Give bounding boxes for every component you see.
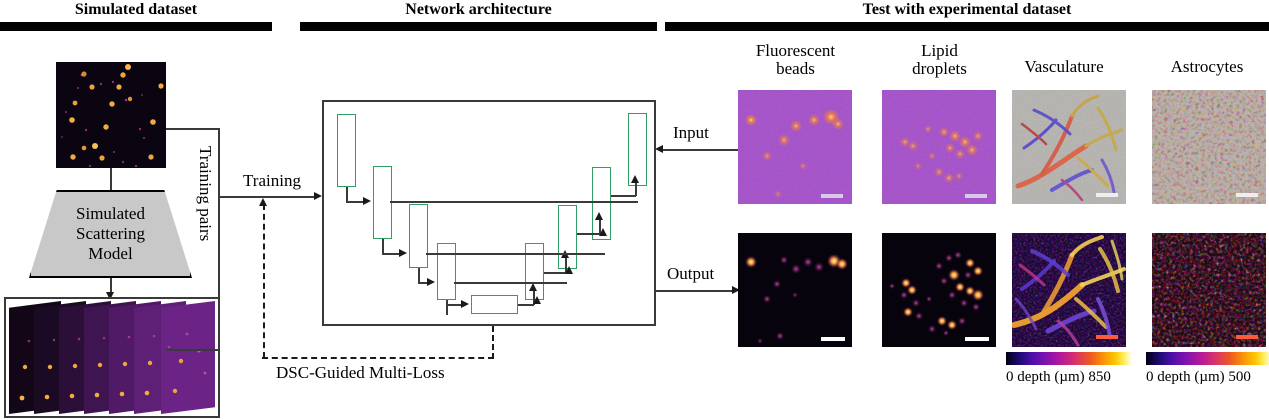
vasculature-colorbar-max: 850 — [1088, 369, 1111, 385]
input-arrow-head — [655, 145, 663, 153]
astrocytes-colorbar-min: 0 — [1146, 369, 1154, 385]
output-arrow-line — [656, 290, 736, 292]
vasculature-colorbar-min: 0 — [1006, 369, 1014, 385]
unet-skip-connection — [390, 201, 638, 203]
unet-skip-arrow — [533, 296, 541, 304]
unet-skip-arrow — [599, 228, 607, 236]
unet-down-arrow — [363, 197, 371, 205]
beads-output-render — [738, 233, 852, 347]
unet-down-link — [346, 187, 348, 202]
loss-feedback-down — [492, 326, 494, 359]
loss-label: DSC-Guided Multi-Loss — [276, 364, 445, 382]
column-title-beads-line2: beads — [738, 60, 853, 78]
unet-up-arrow — [595, 212, 603, 220]
vasculature-input-render — [1012, 90, 1126, 204]
figure-root: Simulated dataset Network architecture T… — [0, 0, 1269, 420]
column-title-lipid-line2: droplets — [882, 60, 997, 78]
astrocytes-colorbar-max: 500 — [1228, 369, 1251, 385]
unet-down-arrow — [399, 249, 407, 257]
section-rule-simulated — [0, 22, 272, 31]
unet-decoder-block — [558, 205, 577, 269]
training-arrow-head — [314, 192, 322, 200]
vasculature-output-render — [1012, 233, 1126, 347]
training-arrow-line — [218, 196, 318, 198]
unet-up-link — [611, 195, 636, 197]
column-title-beads-line1: Fluorescent — [738, 42, 853, 60]
unet-encoder-block — [437, 243, 456, 300]
training-pairs-label: Training pairs — [195, 146, 215, 241]
section-title-simulated: Simulated dataset — [0, 1, 272, 19]
vasculature-input-image — [1012, 90, 1126, 204]
unet-skip-connection — [426, 253, 605, 255]
lipid-output-render — [882, 233, 996, 347]
lipid-input-image — [882, 90, 996, 204]
unet-bottleneck-block — [471, 295, 518, 314]
astrocytes-output-render — [1152, 233, 1266, 347]
vasculature-output-image — [1012, 233, 1126, 347]
unet-skip-connection — [454, 282, 567, 284]
model-line-1: Simulated — [76, 204, 145, 224]
training-pairs-bracket — [218, 128, 220, 350]
gt-bracket-top — [166, 128, 219, 130]
vasculature-colorbar-labels: 0 depth (µm) 850 — [1006, 369, 1111, 386]
column-title-lipid: Lipid droplets — [882, 42, 997, 78]
stack-points — [9, 301, 215, 414]
beads-input-image — [738, 90, 852, 204]
output-label: Output — [667, 265, 714, 283]
column-title-lipid-line1: Lipid — [882, 42, 997, 60]
column-title-vasculature: Vasculature — [1005, 58, 1123, 76]
astrocytes-output-image — [1152, 233, 1266, 347]
lipid-output-image — [882, 233, 996, 347]
unet-down-link — [382, 239, 384, 254]
unet-encoder-block — [337, 114, 356, 187]
beads-output-image — [738, 233, 852, 347]
loss-feedback-arrow — [259, 198, 267, 206]
unet-down-link — [418, 268, 420, 283]
section-rule-experiment — [665, 22, 1269, 31]
model-line-3: Model — [88, 244, 132, 264]
loss-feedback-line — [262, 357, 494, 359]
unet-up-link — [577, 233, 600, 235]
unet-down-arrow — [461, 300, 469, 308]
stack-bracket-bottom — [166, 349, 219, 351]
unet-skip-arrow — [565, 266, 573, 274]
astrocytes-input-image — [1152, 90, 1266, 204]
column-title-beads: Fluorescent beads — [738, 42, 853, 78]
unet-encoder-block — [409, 204, 428, 268]
loss-feedback-up — [263, 204, 265, 358]
astrocytes-colorbar — [1146, 352, 1269, 365]
column-title-astrocytes: Astrocytes — [1148, 58, 1266, 76]
unet-up-arrow — [631, 175, 639, 183]
simulated-ground-truth-image — [56, 62, 166, 168]
astrocytes-colorbar-caption: depth (µm) — [1157, 369, 1224, 385]
section-title-experiment: Test with experimental dataset — [665, 1, 1269, 19]
gt-points — [56, 62, 166, 168]
vasculature-colorbar — [1006, 352, 1132, 365]
simulated-scattering-stack — [9, 301, 215, 414]
unet-down-arrow — [427, 278, 435, 286]
unet-up-link — [544, 272, 566, 274]
model-line-2: Scattering — [76, 224, 145, 244]
unet-up-arrow — [529, 283, 537, 291]
vasculature-colorbar-caption: depth (µm) — [1017, 369, 1084, 385]
training-label: Training — [243, 172, 301, 190]
beads-input-render — [738, 90, 852, 204]
input-arrow-line — [661, 149, 739, 151]
section-title-network: Network architecture — [300, 1, 657, 19]
unet-down-link — [446, 300, 448, 315]
astrocytes-colorbar-labels: 0 depth (µm) 500 — [1146, 369, 1251, 386]
simulated-scattering-model-box: Simulated Scattering Model — [29, 190, 192, 278]
lipid-input-render — [882, 90, 996, 204]
unet-up-link — [518, 304, 534, 306]
section-rule-network — [300, 22, 657, 31]
astrocytes-input-render — [1152, 90, 1266, 204]
input-label: Input — [673, 124, 709, 142]
